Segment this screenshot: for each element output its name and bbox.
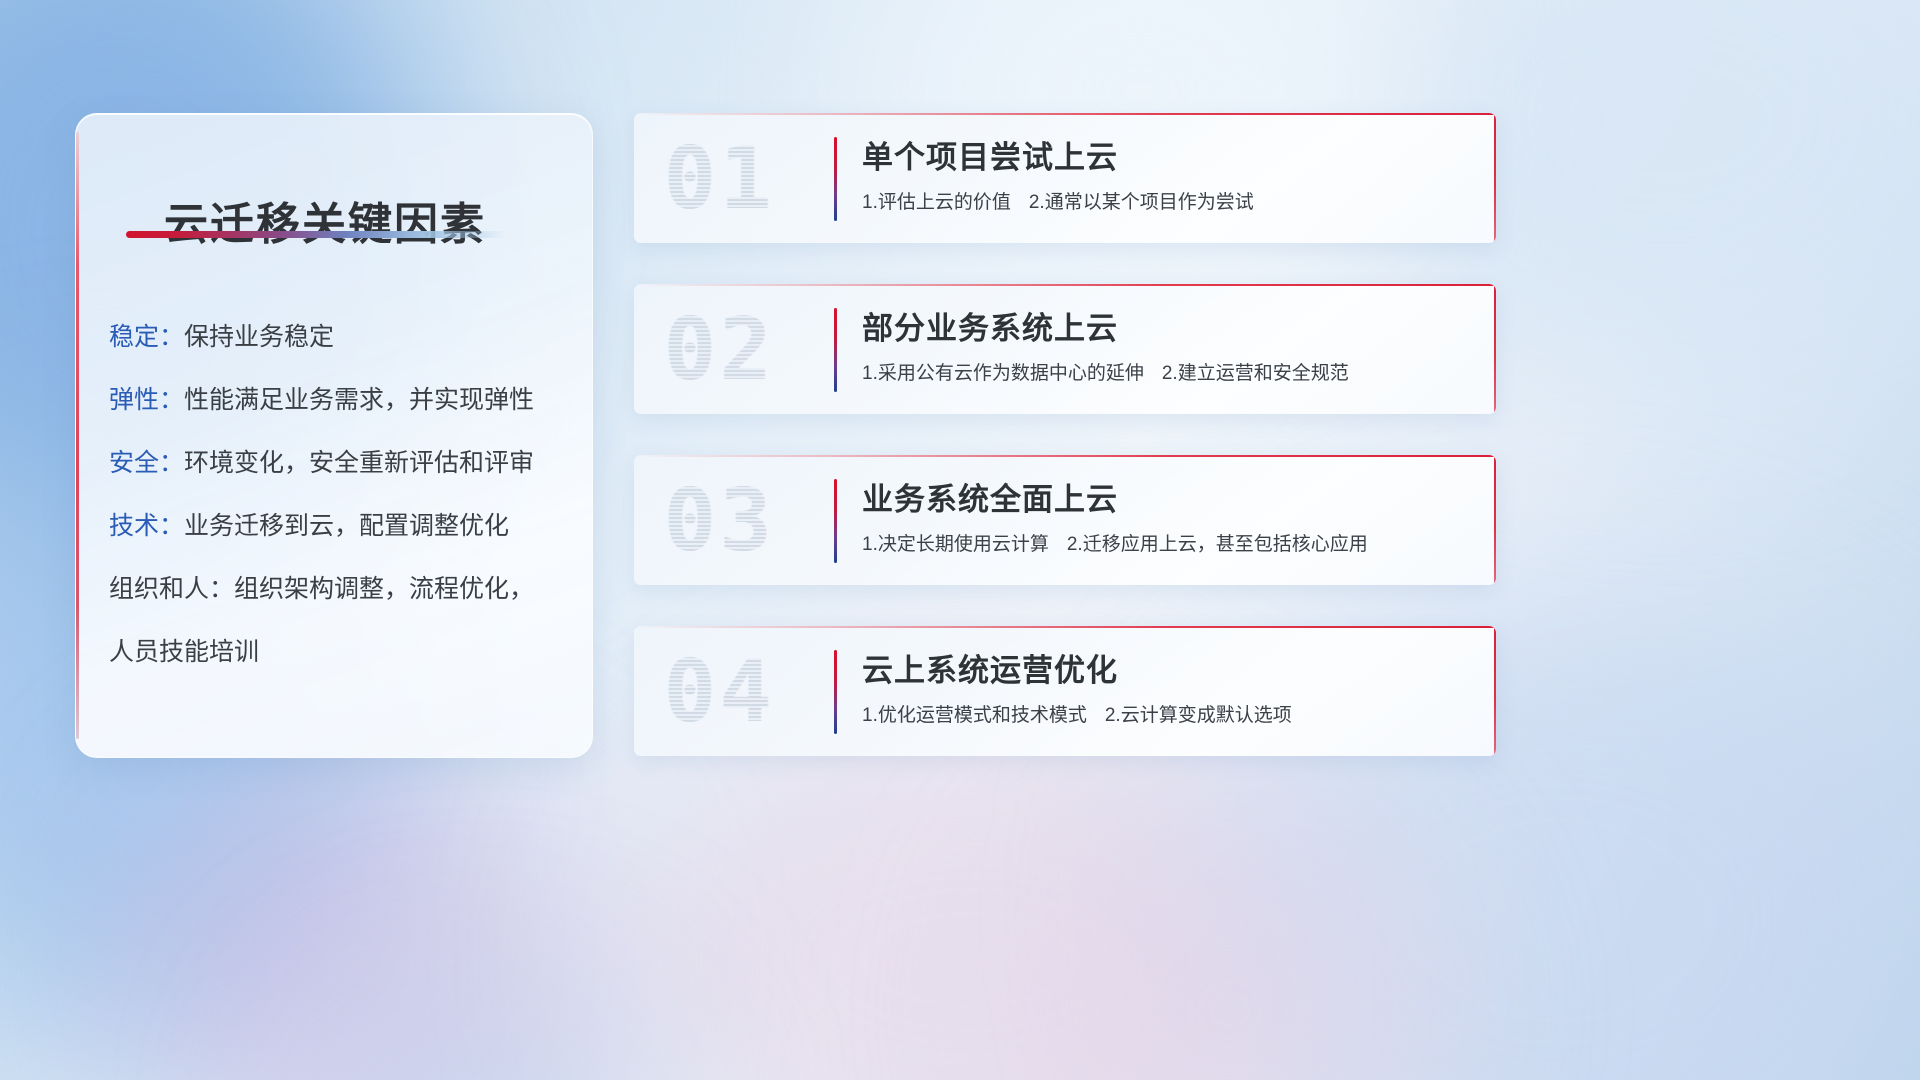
stage-number-watermark: 03: [664, 469, 824, 573]
stage-title: 业务系统全面上云: [862, 479, 1472, 521]
stage-divider-bar: [834, 308, 837, 392]
factor-label: 组织和人：: [109, 575, 234, 603]
stage-point-2: 2.迁移应用上云，甚至包括核心应用: [1067, 534, 1368, 555]
list-item: 稳定：保持业务稳定: [109, 306, 579, 369]
stage-number-watermark: 02: [664, 298, 824, 402]
factor-value: 性能满足业务需求，并实现弹性: [184, 386, 534, 414]
stage-description: 1.决定长期使用云计算2.迁移应用上云，甚至包括核心应用: [862, 532, 1472, 558]
key-factors-list: 稳定：保持业务稳定 弹性：性能满足业务需求，并实现弹性 安全：环境变化，安全重新…: [109, 306, 579, 684]
stage-point-1: 1.采用公有云作为数据中心的延伸: [862, 363, 1144, 384]
factor-value: 保持业务稳定: [184, 323, 334, 351]
stage-point-1: 1.决定长期使用云计算: [862, 534, 1049, 555]
stage-description: 1.采用公有云作为数据中心的延伸2.建立运营和安全规范: [862, 361, 1472, 387]
stage-point-1: 1.优化运营模式和技术模式: [862, 705, 1087, 726]
list-item: 组织和人：组织架构调整，流程优化，: [109, 558, 579, 621]
stage-description: 1.优化运营模式和技术模式2.云计算变成默认选项: [862, 703, 1472, 729]
stage-card[interactable]: 03 业务系统全面上云 1.决定长期使用云计算2.迁移应用上云，甚至包括核心应用: [634, 455, 1496, 585]
stage-card[interactable]: 02 部分业务系统上云 1.采用公有云作为数据中心的延伸2.建立运营和安全规范: [634, 284, 1496, 414]
key-factors-panel: 云迁移关键因素 稳定：保持业务稳定 弹性：性能满足业务需求，并实现弹性 安全：环…: [75, 113, 593, 758]
factor-label: 技术：: [109, 512, 184, 540]
stage-point-2: 2.通常以某个项目作为尝试: [1029, 192, 1254, 213]
stage-card-body: 云上系统运营优化 1.优化运营模式和技术模式2.云计算变成默认选项: [862, 650, 1472, 729]
stage-divider-bar: [834, 479, 837, 563]
stage-card-body: 单个项目尝试上云 1.评估上云的价值2.通常以某个项目作为尝试: [862, 137, 1472, 216]
stage-card[interactable]: 01 单个项目尝试上云 1.评估上云的价值2.通常以某个项目作为尝试: [634, 113, 1496, 243]
stage-description: 1.评估上云的价值2.通常以某个项目作为尝试: [862, 190, 1472, 216]
stage-title: 云上系统运营优化: [862, 650, 1472, 692]
stage-divider-bar: [834, 137, 837, 221]
stage-divider-bar: [834, 650, 837, 734]
stage-title: 单个项目尝试上云: [862, 137, 1472, 179]
stage-card[interactable]: 04 云上系统运营优化 1.优化运营模式和技术模式2.云计算变成默认选项: [634, 626, 1496, 756]
stage-number-watermark: 01: [664, 127, 824, 231]
stage-card-body: 部分业务系统上云 1.采用公有云作为数据中心的延伸2.建立运营和安全规范: [862, 308, 1472, 387]
migration-stage-cards: 01 单个项目尝试上云 1.评估上云的价值2.通常以某个项目作为尝试 02 部分…: [634, 113, 1496, 797]
stage-title: 部分业务系统上云: [862, 308, 1472, 350]
stage-point-1: 1.评估上云的价值: [862, 192, 1011, 213]
factor-value: 环境变化，安全重新评估和评审: [184, 449, 534, 477]
stage-point-2: 2.建立运营和安全规范: [1162, 363, 1349, 384]
factor-value: 组织架构调整，流程优化，: [234, 575, 534, 603]
stage-point-2: 2.云计算变成默认选项: [1105, 705, 1292, 726]
title-underline-rule: [126, 231, 506, 238]
factor-label: 安全：: [109, 449, 184, 477]
list-item: 技术：业务迁移到云，配置调整优化: [109, 495, 579, 558]
factor-value: 业务迁移到云，配置调整优化: [184, 512, 509, 540]
factor-label: 弹性：: [109, 386, 184, 414]
list-item: 人员技能培训: [109, 621, 579, 684]
page-title: 云迁移关键因素: [164, 188, 486, 252]
list-item: 弹性：性能满足业务需求，并实现弹性: [109, 369, 579, 432]
list-item: 安全：环境变化，安全重新评估和评审: [109, 432, 579, 495]
factor-value: 人员技能培训: [109, 638, 259, 666]
factor-label: 稳定：: [109, 323, 184, 351]
stage-card-body: 业务系统全面上云 1.决定长期使用云计算2.迁移应用上云，甚至包括核心应用: [862, 479, 1472, 558]
stage-number-watermark: 04: [664, 640, 824, 744]
